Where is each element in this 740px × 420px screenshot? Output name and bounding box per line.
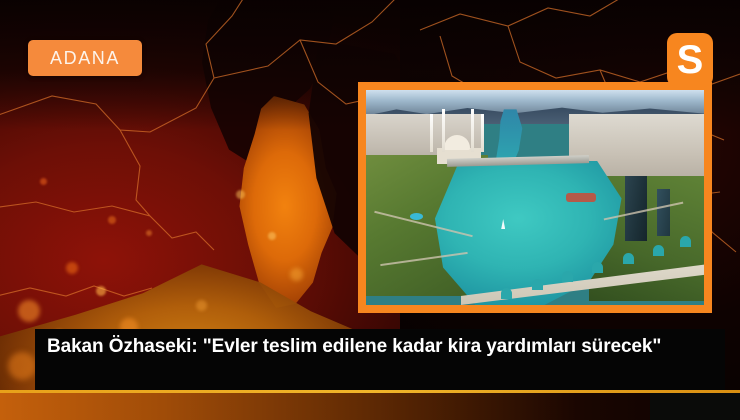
- photo-red-roof-building: [566, 193, 596, 202]
- photo-high-rise-tower: [625, 176, 647, 241]
- news-photo: [366, 90, 704, 305]
- bottom-strip: [0, 393, 740, 420]
- photo-bridge-arch: [532, 279, 543, 290]
- photo-minaret: [481, 114, 484, 153]
- photo-minaret: [430, 114, 433, 153]
- headline-bar: Bakan Özhaseki: "Evler teslim edilene ka…: [35, 329, 725, 390]
- region-badge: ADANA: [28, 40, 142, 76]
- photo-bridge-arch: [623, 253, 634, 264]
- photo-bridge-arch: [592, 262, 603, 273]
- s-logo-letter: S: [677, 40, 704, 80]
- photo-high-rise-tower: [657, 189, 670, 236]
- photo-pool: [410, 213, 423, 220]
- bottom-strip-dark: [650, 393, 740, 420]
- photo-bridge-arch: [562, 271, 573, 282]
- photo-bridge-arch: [680, 236, 691, 247]
- photo-bridge-arch: [653, 245, 664, 256]
- photo-minaret: [442, 109, 445, 152]
- news-card: ADANA: [0, 0, 740, 420]
- photo-bridge-arch: [501, 288, 512, 299]
- news-photo-frame: [358, 82, 712, 313]
- headline-underline: [0, 390, 740, 393]
- photo-minaret: [471, 109, 474, 152]
- region-badge-label: ADANA: [50, 48, 120, 69]
- headline-text: Bakan Özhaseki: "Evler teslim edilene ka…: [47, 335, 715, 359]
- s-logo: S: [667, 33, 713, 87]
